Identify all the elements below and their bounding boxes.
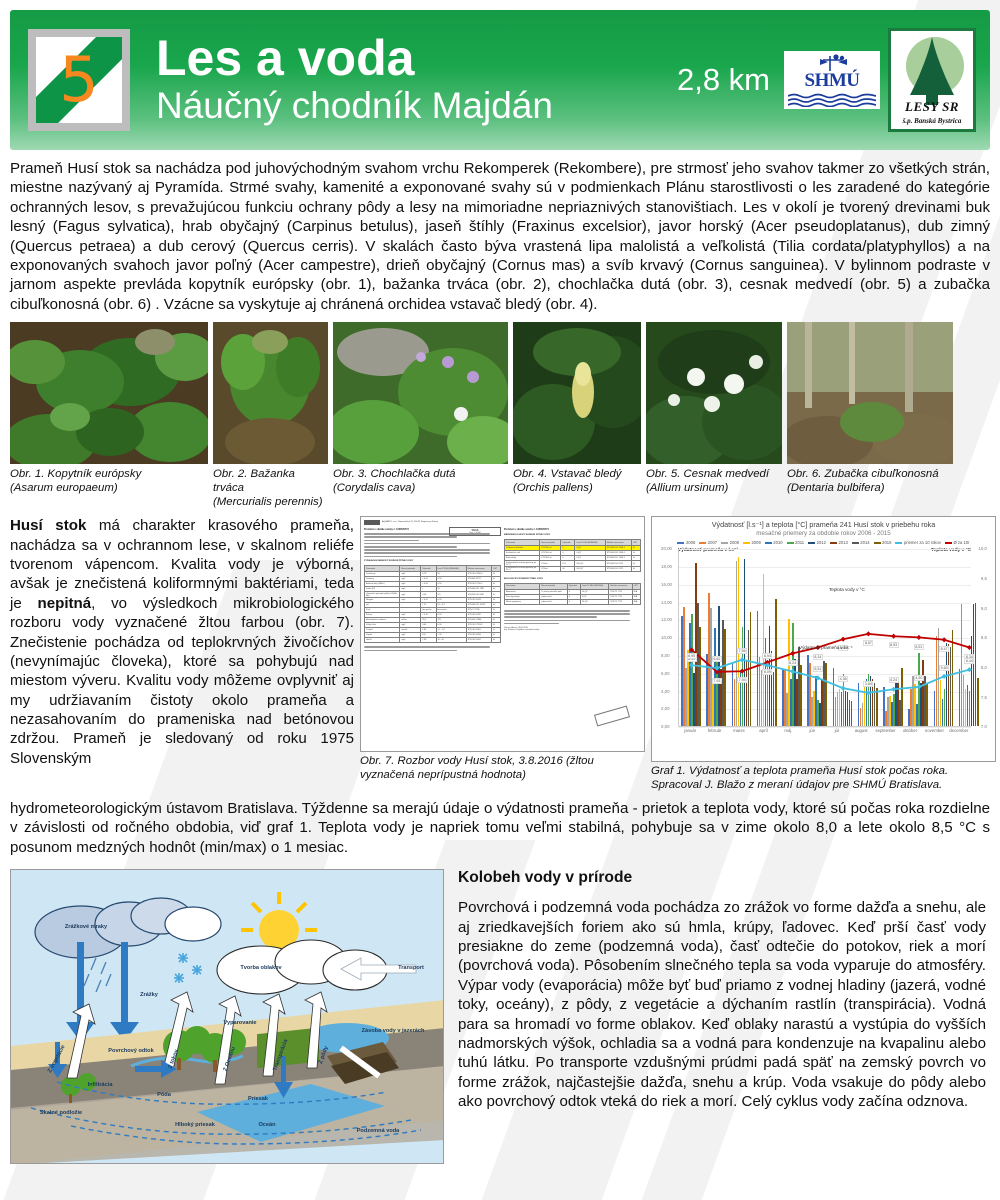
data-label: 6,62 <box>712 656 722 662</box>
legend-swatch <box>874 542 881 544</box>
legend-item: 2012 <box>808 540 826 545</box>
y-tick-label: 18,00 <box>661 564 672 569</box>
table-row: Mŕtve organizmyjedincov/ml050 (0)*STN 75… <box>505 599 641 604</box>
figure-7-caption-line2: vyznačená neprípustná hodnota) <box>360 769 645 783</box>
photo-strip <box>10 322 990 464</box>
x-tick-label: november <box>922 728 946 733</box>
legend-item: Ø za 10r <box>945 540 970 545</box>
data-label: 8,57 <box>863 640 873 646</box>
y-tick-label: 16,00 <box>661 582 672 587</box>
legend-swatch <box>945 542 952 544</box>
x-tick-label: marec <box>727 728 751 733</box>
lab-report-image: AQUASTO s.r.o., Nemocničná 15, 900 31 St… <box>360 516 645 752</box>
lab-logo-icon <box>364 520 380 525</box>
data-label: 8,34 <box>813 654 823 660</box>
graf-1-caption-line1: Graf 1. Výdatnosť a teplota prameňa Husí… <box>651 765 996 779</box>
legend-label: Ø za 10r <box>953 540 969 545</box>
y-tick-label: 6,00 <box>661 671 670 676</box>
y-tick-label: 4,00 <box>661 689 670 694</box>
legend-swatch <box>765 542 772 544</box>
series-line <box>692 634 970 672</box>
legend-swatch <box>677 542 684 544</box>
legend-label: 2012 <box>817 540 826 545</box>
data-label: 4,50 <box>914 675 924 681</box>
caption-obr-6: Obr. 6. Zubačka cibuľkonosná (Dentaria b… <box>787 468 953 509</box>
bio-table-title: BIOLOGICKÝ ROZBOR PITNEJ VODY <box>504 578 641 580</box>
chart-x-axis-labels: januárfebruármarecaprílmájjúnjúlaugustse… <box>678 728 971 733</box>
legend-swatch <box>743 542 750 544</box>
graf-1-block: Výdatnosť [l.s⁻¹] a teplota [°C] prameňa… <box>651 516 996 793</box>
legend-label: 2008 <box>730 540 739 545</box>
photo-obr-3 <box>333 322 508 464</box>
spring-description: Husí stok má charakter krasového prameňa… <box>10 516 354 793</box>
y-tick-label: 8,00 <box>661 653 670 658</box>
legend-item: 2009 <box>743 540 761 545</box>
table-row: Horčíkmg/l7,3810 - 30STN ISO 6059A <box>365 638 501 643</box>
label-tvorba-oblakov: Tvorba oblakov <box>225 965 297 971</box>
series-marker <box>790 669 795 674</box>
caption-latin: (Allium ursinum) <box>646 482 782 496</box>
data-label: 4,36 <box>838 676 848 682</box>
data-label: 8,47 <box>939 646 949 652</box>
label-zasoba-vody-v-jazerach: Zásoba vody v jazerách <box>361 1028 425 1034</box>
legend-swatch <box>852 542 859 544</box>
intro-paragraph: Prameň Husí stok sa nachádza pod juhovýc… <box>10 159 990 314</box>
legend-item: 2015 <box>874 540 892 545</box>
series-marker <box>815 676 820 681</box>
series-marker <box>942 637 947 642</box>
series-marker <box>967 667 972 672</box>
series-marker <box>942 674 947 679</box>
caption-latin: (Dentaria bulbifera) <box>787 482 953 496</box>
waves-icon <box>788 93 876 107</box>
section-heading: Kolobeh vody v prírode <box>458 869 986 887</box>
y-tick-label: 20,00 <box>661 546 672 551</box>
fyzikalno-chemicky-table: Parameter Merná jednotka Výsledok Limit … <box>364 565 501 643</box>
legend-item: 2014 <box>852 540 870 545</box>
caption-latin: (Asarum europaeum) <box>10 482 208 496</box>
chart-subtitle: mesačné priemery za obdobie rokov 2006 -… <box>656 530 991 537</box>
legend-item: priemer za 10 rokov <box>895 540 941 545</box>
caption-latin: (Mercurialis perennis) <box>213 496 328 510</box>
caption-title: Obr. 1. Kopytník európsky <box>10 468 208 482</box>
lesy-logo-line2: š.p. Banská Bystrica <box>891 117 973 125</box>
spring-name-bold: Husí stok <box>10 517 86 534</box>
data-label: 3,84 <box>863 681 873 687</box>
data-label: 6,94 <box>762 653 772 659</box>
legend-label: 2011 <box>795 540 804 545</box>
legend-swatch <box>721 542 728 544</box>
figure-7-caption-line1: Obr. 7. Rozbor vody Husí stok, 3.8.2016 … <box>360 755 645 769</box>
chart-plot-area: 0,002,004,006,008,0010,0012,0014,0016,00… <box>678 549 971 727</box>
x-tick-label: február <box>702 728 726 733</box>
legend-item: 2006 <box>677 540 695 545</box>
info-panel: 5 Les a voda Náučný chodník Majdán 2,8 k… <box>0 0 1000 1164</box>
x-tick-label: júl <box>825 728 849 733</box>
data-label: 8,51 <box>914 644 924 650</box>
chart-lines <box>679 549 982 727</box>
chart-title: Výdatnosť [l.s⁻¹] a teplota [°C] prameňa… <box>656 520 991 529</box>
caption-obr-5: Obr. 5. Cesnak medvedí (Allium ursinum) <box>646 468 782 509</box>
graf-1-caption-line2: Spracoval J. Blažo z meraní údajov pre S… <box>651 779 996 793</box>
data-label: 4,24 <box>889 677 899 683</box>
conifer-tree-icon <box>905 35 959 109</box>
spring-text-part2: , vo výsledkoch mikrobiologického rozbor… <box>10 595 354 767</box>
legend-swatch <box>830 542 837 544</box>
chart-image: Výdatnosť [l.s⁻¹] a teplota [°C] prameňa… <box>651 516 996 762</box>
label-vyparovanie: Vyparovanie <box>207 1020 273 1026</box>
caption-obr-4: Obr. 4. Vstavač bledý (Orchis pallens) <box>513 468 641 509</box>
legend-item: 2008 <box>721 540 739 545</box>
series-marker <box>689 663 694 668</box>
x-tick-label: október <box>898 728 922 733</box>
y-tick-label: 10,00 <box>661 635 672 640</box>
legend-item: 2013 <box>830 540 848 545</box>
data-label: 7,93 <box>712 678 722 684</box>
figure-7-block: AQUASTO s.r.o., Nemocničná 15, 900 31 St… <box>360 516 645 793</box>
legend-label: 2014 <box>860 540 869 545</box>
legend-label: 2015 <box>882 540 891 545</box>
shmu-logo: SHMÚ <box>784 51 880 109</box>
photo-captions: Obr. 1. Kopytník európsky (Asarum europa… <box>10 468 990 509</box>
chart-legend: 2006200720082009201020112012201320142015… <box>656 540 991 545</box>
x-tick-label: január <box>678 728 702 733</box>
series-marker <box>916 685 921 690</box>
label-povrchovy-odtok: Povrchový odtok <box>103 1048 159 1054</box>
series-marker <box>740 669 745 674</box>
series-line <box>692 660 970 693</box>
photo-obr-4 <box>513 322 641 464</box>
y-tick-label: 14,00 <box>661 600 672 605</box>
data-label: 6,44 <box>964 658 974 664</box>
legend-label: 2007 <box>708 540 717 545</box>
legend-swatch <box>895 542 902 544</box>
spring-yield-chart: Výdatnosť [l.s⁻¹] a teplota [°C] prameňa… <box>652 517 995 761</box>
photo-obr-5 <box>646 322 782 464</box>
caption-title: Obr. 3. Chochlačka dutá <box>333 468 508 482</box>
trail-distance: 2,8 km <box>677 62 770 98</box>
y-tick-label: 2,00 <box>661 706 670 711</box>
label-hlboky-priesak: Hlboký priesak <box>159 1122 231 1128</box>
page-subtitle: Náučný chodník Majdán <box>156 85 677 128</box>
x-tick-label: jún <box>800 728 824 733</box>
lab-protocol-heading-2: Protokol o skúške vzorky č. 16065/9772 <box>504 528 641 531</box>
data-label: 5,69 <box>939 665 949 671</box>
legend-swatch <box>699 542 706 544</box>
label-skalne-podlozie: Skalné podložie <box>27 1110 95 1116</box>
section-body: Povrchová i podzemná voda pochádza zo zr… <box>458 898 986 1111</box>
lesy-logo-line1: LESY SR <box>891 99 973 115</box>
data-label: 6,24 <box>788 660 798 666</box>
lesy-sr-logo: LESY SR š.p. Banská Bystrica <box>888 28 976 132</box>
y-tick-label: 0,00 <box>661 724 670 729</box>
panel-header: 5 Les a voda Náučný chodník Majdán 2,8 k… <box>10 10 990 150</box>
trail-number: 5 <box>36 37 122 123</box>
caption-latin: (Orchis pallens) <box>513 482 641 496</box>
caption-obr-3: Obr. 3. Chochlačka dutá (Corydalis cava) <box>333 468 508 509</box>
series-marker <box>740 657 745 662</box>
annotation-teplota: Teplota vody v °C <box>829 587 865 592</box>
biologicky-table: ParameterMerná jednotka VýsledokLimit PV… <box>504 583 641 605</box>
legend-label: 2010 <box>773 540 782 545</box>
series-marker <box>841 637 846 642</box>
fyz-table-title: FYZIKÁLNOCHEMICKÝ ROZBOR PITNEJ VODY <box>364 560 501 562</box>
nepitna-bold: nepitná <box>37 595 91 612</box>
label-poda: Pôda <box>149 1092 179 1098</box>
legend-label: 2009 <box>751 540 760 545</box>
water-cycle-text: Kolobeh vody v prírode Povrchová i podze… <box>458 869 990 1164</box>
water-cycle-illustration <box>11 870 444 1164</box>
gridline <box>679 727 971 728</box>
x-tick-label: september <box>873 728 897 733</box>
label-priesak: Priesak <box>237 1096 279 1102</box>
water-cycle-diagram: Zrážkové mraky Zrážky Transport Tvorba o… <box>10 869 444 1164</box>
caption-title: Obr. 4. Vstavač bledý <box>513 468 641 482</box>
caption-title: Obr. 2. Bažanka trváca <box>213 468 328 495</box>
y-tick-label: 12,00 <box>661 617 672 622</box>
label-ocean: Oceán <box>247 1122 287 1128</box>
table-row: Kultivovateľné mikroorganizmy pri 36 °CK… <box>505 566 641 571</box>
label-zrazkove-mraky: Zrážkové mraky <box>51 924 121 930</box>
label-podzemna-voda: Podzemná voda <box>341 1128 415 1134</box>
data-label: 5,51 <box>813 666 823 672</box>
x-tick-label: máj <box>776 728 800 733</box>
tail-paragraph: hydrometeorologickým ústavom Bratislava.… <box>10 799 990 857</box>
figure-7-caption: Obr. 7. Rozbor vody Husí stok, 3.8.2016 … <box>360 755 645 783</box>
series-marker <box>841 686 846 691</box>
photo-obr-6 <box>787 322 953 464</box>
photo-obr-2 <box>213 322 328 464</box>
x-tick-label: december <box>947 728 971 733</box>
data-label: 7,56 <box>737 648 747 654</box>
series-marker <box>866 690 871 695</box>
caption-obr-1: Obr. 1. Kopytník európsky (Asarum europa… <box>10 468 208 509</box>
caption-latin: (Corydalis cava) <box>333 482 508 496</box>
series-marker <box>967 645 972 650</box>
lab-report-page-2: Protokol o skúške vzorky č. 16065/9772 M… <box>504 520 641 748</box>
label-zrazky: Zrážky <box>127 992 171 998</box>
caption-title: Obr. 5. Cesnak medvedí <box>646 468 782 482</box>
legend-item: 2007 <box>699 540 717 545</box>
mikrobiologicky-table: ParameterMerná jednotka VýsledokLimit PV… <box>504 539 641 571</box>
lab-report-page-1: AQUASTO s.r.o., Nemocničná 15, 900 31 St… <box>364 520 501 748</box>
caption-obr-2: Obr. 2. Bažanka trváca (Mercurialis pere… <box>213 468 328 509</box>
legend-item: 2011 <box>787 540 805 545</box>
lab-stamp-icon <box>594 706 630 727</box>
label-infiltracia: Infiltrácia <box>73 1082 127 1088</box>
series-marker <box>916 635 921 640</box>
data-label: 7,94 <box>737 677 747 683</box>
x-tick-label: august <box>849 728 873 733</box>
page-title: Les a voda <box>156 33 677 83</box>
photo-obr-1 <box>10 322 208 464</box>
series-marker <box>891 687 896 692</box>
legend-label: priemer za 10 rokov <box>904 540 941 545</box>
legend-swatch <box>808 542 815 544</box>
micro-table-title: MIKROBIOLOGICKÝ ROZBOR PITNEJ VODY <box>504 534 641 536</box>
lab-signature: Ing. Katarína Chytilová, manažér kvality <box>504 629 641 631</box>
series-marker <box>891 634 896 639</box>
data-label: 8,09 <box>762 669 772 675</box>
shmu-logo-text: SHMÚ <box>784 70 880 92</box>
x-tick-label: apríl <box>751 728 775 733</box>
trail-marker-badge: 5 <box>28 29 130 131</box>
graf-1-caption: Graf 1. Výdatnosť a teplota prameňa Husí… <box>651 765 996 793</box>
series-marker <box>790 651 795 656</box>
label-transport: Transport <box>383 965 439 971</box>
accreditation-reg: Reg. č. S-048 <box>450 532 500 534</box>
bottom-section: Zrážkové mraky Zrážky Transport Tvorba o… <box>10 869 990 1164</box>
data-label: 6,95 <box>687 653 697 659</box>
legend-label: 2006 <box>686 540 695 545</box>
annotation-vydatnost: Výdatnosť prameňa v l.s⁻¹ <box>799 645 853 651</box>
middle-section: Husí stok má charakter krasového prameňa… <box>10 516 990 793</box>
caption-title: Obr. 6. Zubačka cibuľkonosná <box>787 468 953 482</box>
legend-item: 2010 <box>765 540 783 545</box>
series-marker <box>866 631 871 636</box>
data-label: 8,53 <box>889 642 899 648</box>
legend-label: 2013 <box>838 540 847 545</box>
lab-company-name: AQUASTO s.r.o., Nemocničná 15, 900 31 St… <box>382 521 438 524</box>
legend-swatch <box>787 542 794 544</box>
